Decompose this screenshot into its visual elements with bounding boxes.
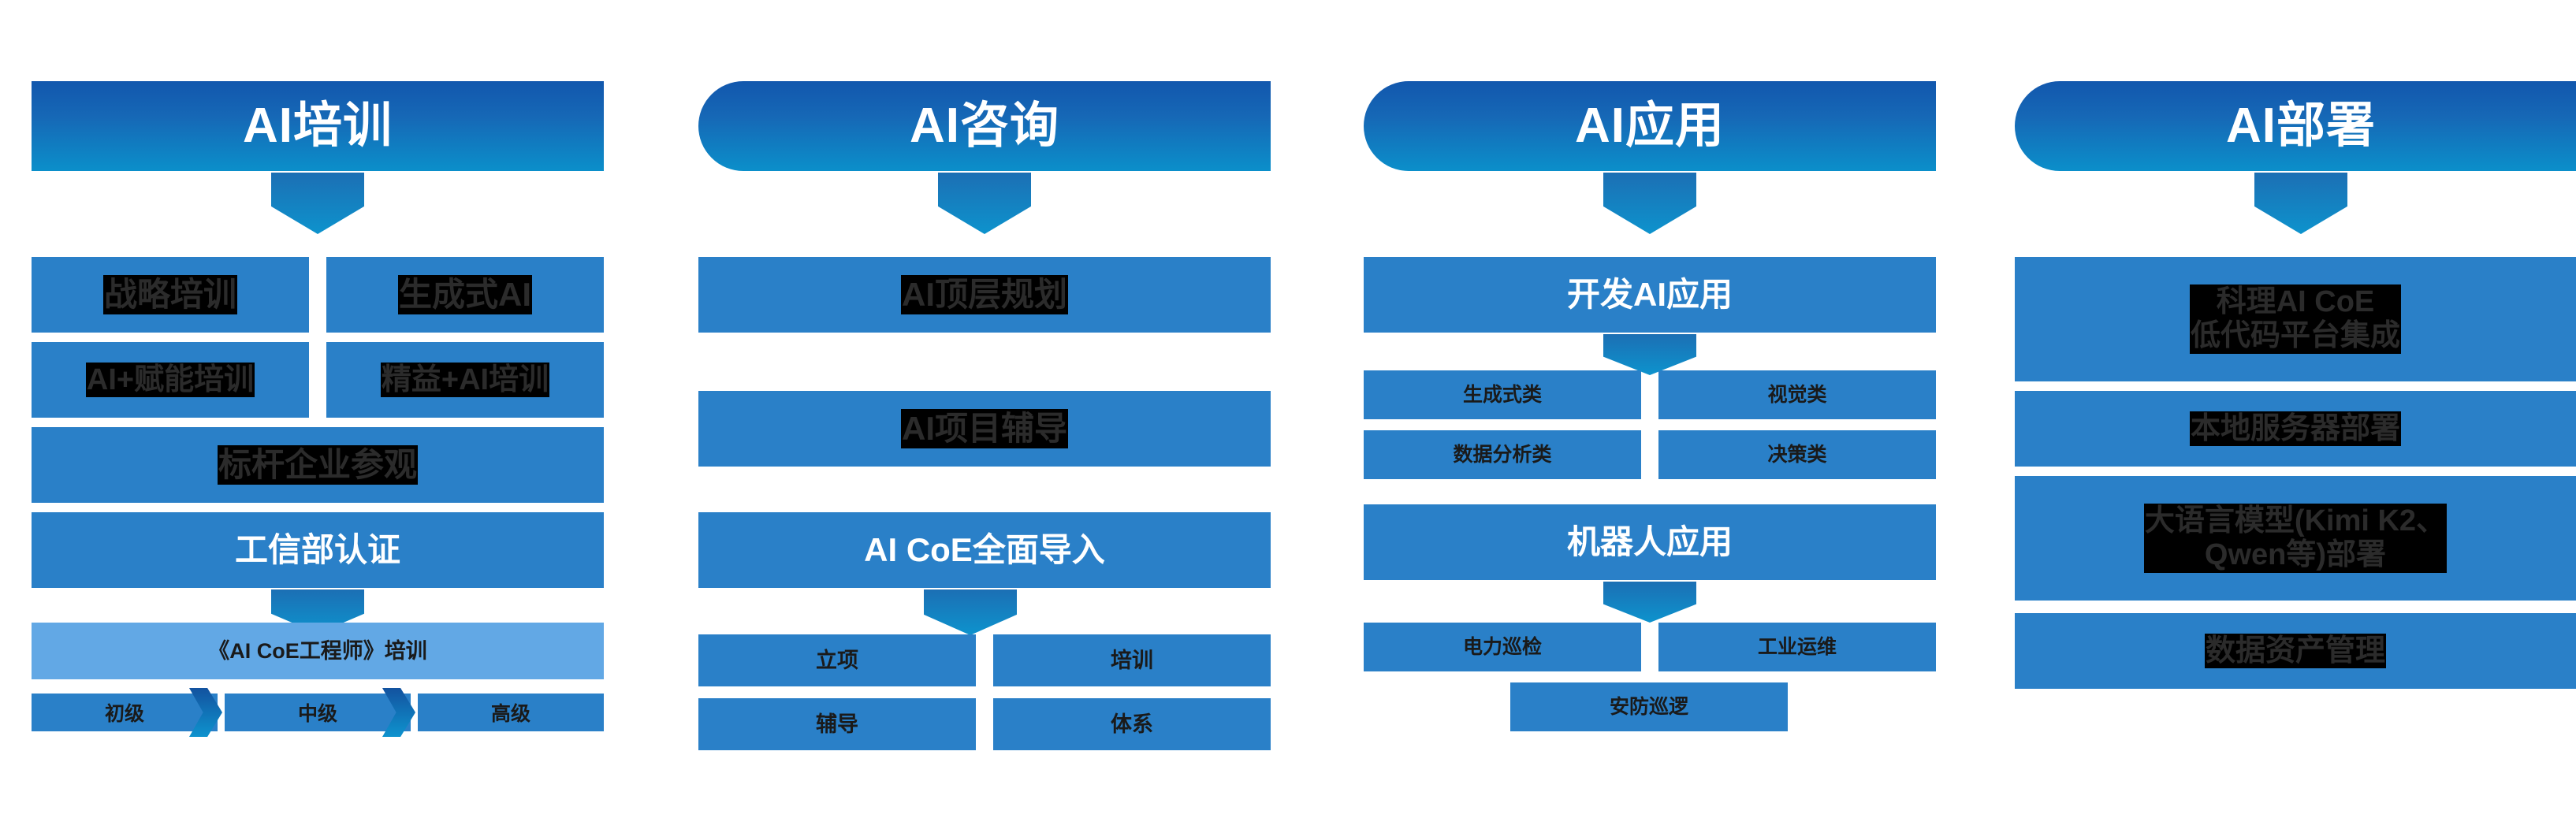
column-ai-deployment: AI部署 科理AI CoE 低代码平台集成 本地服务器部署 大语言模型(Kimi… — [2015, 0, 2576, 833]
box-label: 开发AI应用 — [1567, 276, 1733, 313]
box-label: 培训 — [1111, 649, 1153, 672]
column-ai-training: AI培训 战略培训 生成式AI AI+赋能培训 精益+AI培训 标杆企业参观 工… — [32, 0, 604, 833]
box-label: 生成式类 — [1463, 384, 1542, 406]
box-label: 机器人应用 — [1567, 523, 1733, 560]
column-ai-application: AI应用 开发AI应用 生成式类 视觉类 数据分析类 决策类 机器人应用 电力巡… — [1364, 0, 1936, 833]
box-strategy-training[interactable]: 战略培训 — [32, 257, 309, 333]
box-data-asset-management[interactable]: 数据资产管理 — [2015, 613, 2576, 689]
box-label: 电力巡检 — [1463, 636, 1542, 658]
box-ai-project-coaching[interactable]: AI项目辅导 — [698, 391, 1271, 467]
column-header-ai-consulting[interactable]: AI咨询 — [698, 81, 1271, 171]
box-ai-coe-full-rollout[interactable]: AI CoE全面导入 — [698, 512, 1271, 588]
box-develop-ai-applications[interactable]: 开发AI应用 — [1364, 257, 1936, 333]
box-industrial-ops[interactable]: 工业运维 — [1658, 623, 1936, 671]
box-security-patrol[interactable]: 安防巡逻 — [1510, 682, 1788, 731]
down-arrow-icon — [2254, 173, 2347, 234]
box-label: 数据分析类 — [1453, 444, 1551, 466]
level-badge-label: 中级 — [298, 698, 337, 727]
column-header-ai-deployment[interactable]: AI部署 — [2015, 81, 2576, 171]
box-miit-certification[interactable]: 工信部认证 — [32, 512, 604, 588]
box-label: 视觉类 — [1767, 384, 1826, 406]
down-arrow-icon — [938, 173, 1031, 234]
box-llm-deployment[interactable]: 大语言模型(Kimi K2、 Qwen等)部署 — [2015, 476, 2576, 601]
box-label: 决策类 — [1767, 444, 1826, 466]
box-label: 本地服务器部署 — [2191, 412, 2400, 446]
box-label: 立项 — [816, 649, 858, 672]
down-arrow-icon — [271, 173, 364, 234]
box-label: AI顶层规划 — [902, 276, 1067, 313]
box-label: 辅导 — [816, 712, 858, 736]
box-data-analysis-category[interactable]: 数据分析类 — [1364, 430, 1641, 479]
box-label: 数据资产管理 — [2206, 634, 2385, 668]
level-badge-label: 高级 — [491, 698, 530, 727]
box-benchmark-enterprise-visit[interactable]: 标杆企业参观 — [32, 427, 604, 503]
level-badge-advanced[interactable]: 高级 — [418, 694, 604, 731]
down-arrow-icon — [1603, 334, 1696, 375]
box-coaching[interactable]: 辅导 — [698, 698, 976, 750]
box-ai-top-level-planning[interactable]: AI顶层规划 — [698, 257, 1271, 333]
level-badge-label: 初级 — [105, 698, 144, 727]
box-generative-category[interactable]: 生成式类 — [1364, 370, 1641, 419]
box-label: 精益+AI培训 — [382, 363, 549, 397]
column-header-ai-application[interactable]: AI应用 — [1364, 81, 1936, 171]
box-project-initiation[interactable]: 立项 — [698, 634, 976, 686]
box-label: 科理AI CoE 低代码平台集成 — [2191, 285, 2400, 352]
box-vision-category[interactable]: 视觉类 — [1658, 370, 1936, 419]
down-arrow-icon — [1603, 173, 1696, 234]
box-ai-enablement-training[interactable]: AI+赋能培训 — [32, 342, 309, 418]
box-system[interactable]: 体系 — [993, 698, 1271, 750]
box-local-server-deployment[interactable]: 本地服务器部署 — [2015, 391, 2576, 467]
box-training[interactable]: 培训 — [993, 634, 1271, 686]
box-label: 大语言模型(Kimi K2、 Qwen等)部署 — [2145, 504, 2446, 571]
box-label: AI项目辅导 — [902, 410, 1067, 447]
box-label: 体系 — [1111, 712, 1153, 736]
box-label: 工信部认证 — [235, 531, 400, 568]
diagram-canvas: AI培训 战略培训 生成式AI AI+赋能培训 精益+AI培训 标杆企业参观 工… — [0, 0, 2576, 833]
box-label: 《AI CoE工程师》培训 — [208, 639, 427, 663]
box-label: AI CoE全面导入 — [864, 531, 1105, 568]
box-label: 标杆企业参观 — [218, 446, 417, 483]
down-arrow-icon — [924, 589, 1017, 635]
column-header-title: AI部署 — [2226, 102, 2376, 151]
box-label: 生成式AI — [399, 276, 531, 313]
box-robot-applications[interactable]: 机器人应用 — [1364, 504, 1936, 580]
down-arrow-icon — [1603, 582, 1696, 623]
box-lean-plus-ai-training[interactable]: 精益+AI培训 — [326, 342, 604, 418]
column-header-title: AI培训 — [243, 102, 393, 151]
level-badge-beginner[interactable]: 初级 — [32, 694, 218, 731]
column-header-title: AI咨询 — [910, 102, 1059, 151]
box-power-inspection[interactable]: 电力巡检 — [1364, 623, 1641, 671]
column-header-ai-training[interactable]: AI培训 — [32, 81, 604, 171]
box-label: AI+赋能培训 — [87, 363, 254, 397]
column-ai-consulting: AI咨询 AI顶层规划 AI项目辅导 AI CoE全面导入 立项 培训 辅导 体… — [698, 0, 1271, 833]
box-label: 战略培训 — [104, 276, 236, 313]
box-label: 安防巡逻 — [1610, 696, 1688, 718]
box-keli-ai-coe-lowcode[interactable]: 科理AI CoE 低代码平台集成 — [2015, 257, 2576, 381]
box-ai-coe-engineer-training[interactable]: 《AI CoE工程师》培训 — [32, 623, 604, 679]
box-decision-category[interactable]: 决策类 — [1658, 430, 1936, 479]
box-label: 工业运维 — [1758, 636, 1837, 658]
box-generative-ai[interactable]: 生成式AI — [326, 257, 604, 333]
column-header-title: AI应用 — [1575, 102, 1725, 151]
level-badge-intermediate[interactable]: 中级 — [225, 694, 411, 731]
